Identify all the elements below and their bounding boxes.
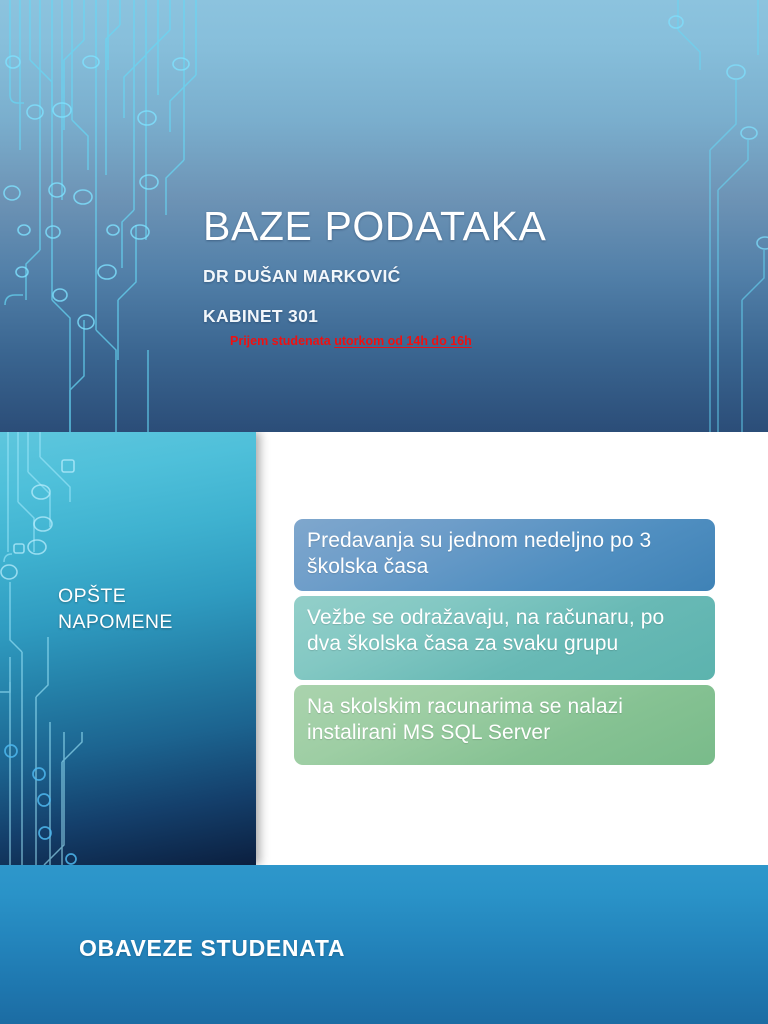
section-header-title: OBAVEZE STUDENATA	[79, 935, 345, 962]
author-line: DR DUŠAN MARKOVIĆ	[203, 266, 723, 287]
title-text-block: BAZE PODATAKA DR DUŠAN MARKOVIĆ KABINET …	[203, 205, 723, 348]
office-line: KABINET 301	[203, 306, 723, 327]
office-hours-note: Prijem studenata utorkom od 14h do 16h	[230, 334, 723, 348]
slide-section-header: OBAVEZE STUDENATA	[0, 865, 768, 1024]
content-box-software: Na skolskim racunarima se nalazi instali…	[294, 685, 715, 765]
slide-title: BAZE PODATAKA DR DUŠAN MARKOVIĆ KABINET …	[0, 0, 768, 432]
circuit-board-decoration-left-icon	[0, 0, 210, 432]
section-heading: OPŠTE NAPOMENE	[58, 584, 206, 635]
slide-general-notes: OPŠTE NAPOMENE Predavanja su jednom nede…	[0, 432, 768, 865]
office-hours-emphasis: utorkom od 14h do 16h	[334, 334, 472, 348]
office-hours-prefix: Prijem studenata	[230, 334, 334, 348]
content-box-lectures: Predavanja su jednom nedeljno po 3 škols…	[294, 519, 715, 591]
page-title: BAZE PODATAKA	[203, 205, 723, 248]
content-box-exercises: Vežbe se odražavaju, na računaru, po dva…	[294, 596, 715, 680]
circuit-board-decoration-panel-icon	[0, 432, 256, 865]
slide2-left-panel: OPŠTE NAPOMENE	[0, 432, 256, 865]
slide-deck: BAZE PODATAKA DR DUŠAN MARKOVIĆ KABINET …	[0, 0, 768, 1024]
